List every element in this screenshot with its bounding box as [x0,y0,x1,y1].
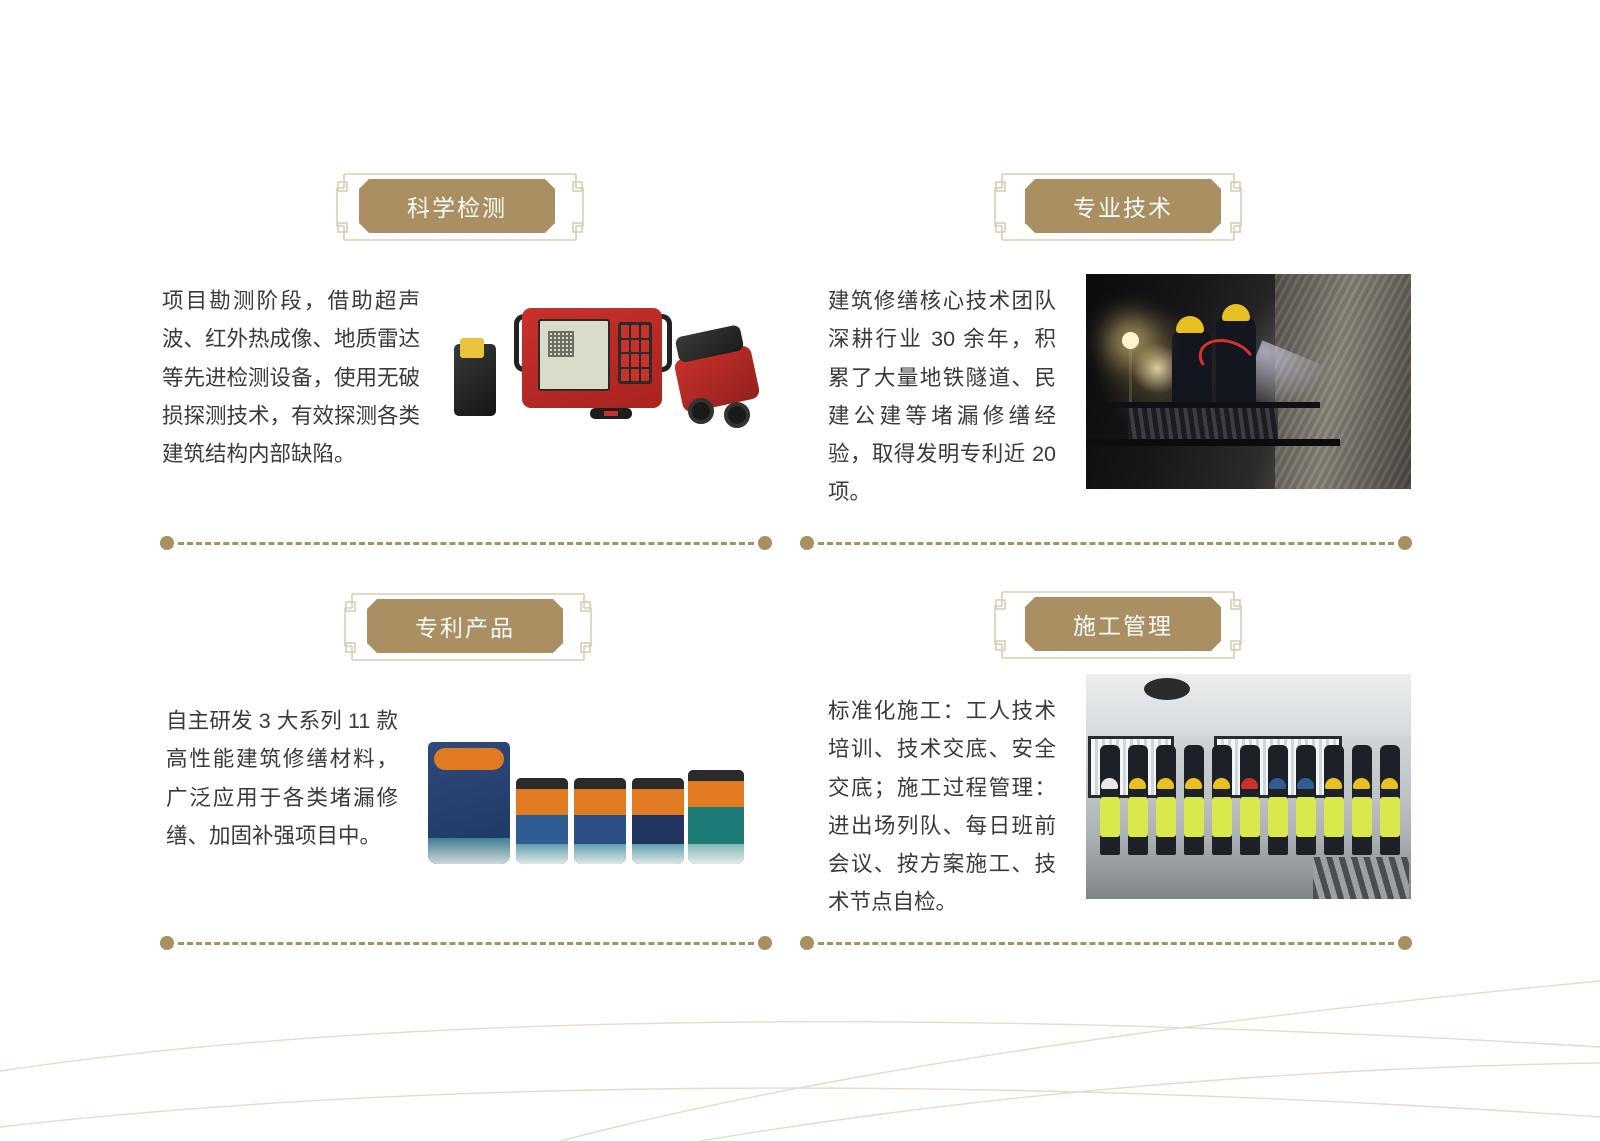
divider-dot-start [160,536,174,550]
hi-vis-vest [1212,797,1232,837]
badge-patent-products: 专利产品 [338,588,598,666]
work-light [1122,332,1139,349]
badge-label-patent-products: 专利产品 [367,599,563,653]
badge-label-construction-management: 施工管理 [1025,597,1221,651]
hard-hat [1157,778,1174,789]
body-text-scientific-detection: 项目勘测阶段，借助超声波、红外热成像、地质雷达等先进检测设备，使用无破损探测技术… [162,282,420,473]
badge-professional-technology: 专业技术 [988,168,1248,246]
divider-dash [178,942,754,945]
product-lineup-photo [416,720,746,880]
floor-grate [1313,857,1409,899]
hi-vis-vest [1128,797,1148,837]
hard-hat [1241,778,1258,789]
sensor-wheel-right [724,402,750,428]
section-construction-management-header: 施工管理 [988,586,1248,664]
badge-scientific-detection: 科学检测 [330,168,590,246]
hi-vis-vest [1100,797,1120,837]
decorative-curves [0,951,1600,1141]
hi-vis-vest [1184,797,1204,837]
badge-label-professional-technology: 专业技术 [1025,179,1221,233]
usb-stick [590,408,632,419]
divider-dot-end [1398,936,1412,950]
hard-hat [1129,778,1146,789]
divider-left-lower [160,936,772,950]
product-bucket-3 [632,778,684,864]
hard-hat [1269,778,1286,789]
section-professional-technology-body: 建筑修缮核心技术团队深耕行业 30 余年，积累了大量地铁隧道、民建公建等堵漏修缮… [828,282,1413,512]
divider-dash [818,542,1394,545]
section-scientific-detection-body: 项目勘测阶段，借助超声波、红外热成像、地质雷达等先进检测设备，使用无破损探测技术… [162,282,772,476]
hard-hat [1353,778,1370,789]
hi-vis-vest [1296,797,1316,837]
roller-sensor [673,344,761,413]
carry-case [454,344,496,416]
scaffold-rail-lower [1086,439,1340,446]
detection-equipment-photo [442,286,772,476]
section-scientific-detection-header: 科学检测 [330,168,590,246]
product-bucket-1 [516,778,568,864]
sensor-wheel-left [688,398,714,424]
hard-hat-right [1222,304,1250,321]
detector-keypad [618,322,652,384]
divider-right-lower [800,936,1412,950]
section-patent-products-body: 自主研发 3 大系列 11 款高性能建筑修缮材料，广泛应用于各类堵漏修缮、加固补… [166,702,776,880]
scaffold-rail-upper [1086,402,1320,408]
hi-vis-vest [1268,797,1288,837]
section-construction-management-body: 标准化施工：工人技术培训、技术交底、安全交底；施工过程管理：进出场列队、每日班前… [828,692,1413,922]
divider-dash [818,942,1394,945]
body-text-construction-management: 标准化施工：工人技术培训、技术交底、安全交底；施工过程管理：进出场列队、每日班前… [828,692,1056,922]
ceiling-fixture [1144,678,1190,700]
badge-construction-management: 施工管理 [988,586,1248,664]
hi-vis-vest [1380,797,1400,837]
brochure-page: 科学检测 项目勘测阶段，借助超声波、红外热成像、地质雷达等先进检测设备，使用无破… [0,0,1600,1141]
hard-hat [1213,778,1230,789]
hi-vis-vest [1324,797,1344,837]
divider-dot-start [800,936,814,950]
hi-vis-vest [1352,797,1372,837]
hard-hat [1381,778,1398,789]
badge-label-scientific-detection: 科学检测 [359,179,555,233]
product-bag [428,742,510,864]
divider-left-upper [160,536,772,550]
hard-hat-left [1176,316,1204,333]
divider-dot-end [758,536,772,550]
hard-hat [1101,778,1118,789]
divider-dash [178,542,754,545]
body-text-patent-products: 自主研发 3 大系列 11 款高性能建筑修缮材料，广泛应用于各类堵漏修缮、加固补… [166,702,398,855]
detector-screen [538,319,610,391]
section-professional-technology-header: 专业技术 [988,168,1248,246]
hard-hat [1325,778,1342,789]
ceiling [1086,674,1411,736]
body-text-professional-technology: 建筑修缮核心技术团队深耕行业 30 余年，积累了大量地铁隧道、民建公建等堵漏修缮… [828,282,1056,512]
divider-dot-end [758,936,772,950]
product-bucket-2 [574,778,626,864]
construction-team-photo [1086,674,1411,899]
product-bucket-4 [688,770,744,864]
hard-hat [1185,778,1202,789]
hi-vis-vest [1156,797,1176,837]
scaffold-grate [1128,406,1278,440]
divider-dot-end [1398,536,1412,550]
section-patent-products-header: 专利产品 [338,588,598,666]
hi-vis-vest [1240,797,1260,837]
divider-right-upper [800,536,1412,550]
divider-dot-start [160,936,174,950]
tunnel-waterproofing-photo [1086,274,1411,489]
hard-hat [1297,778,1314,789]
divider-dot-start [800,536,814,550]
